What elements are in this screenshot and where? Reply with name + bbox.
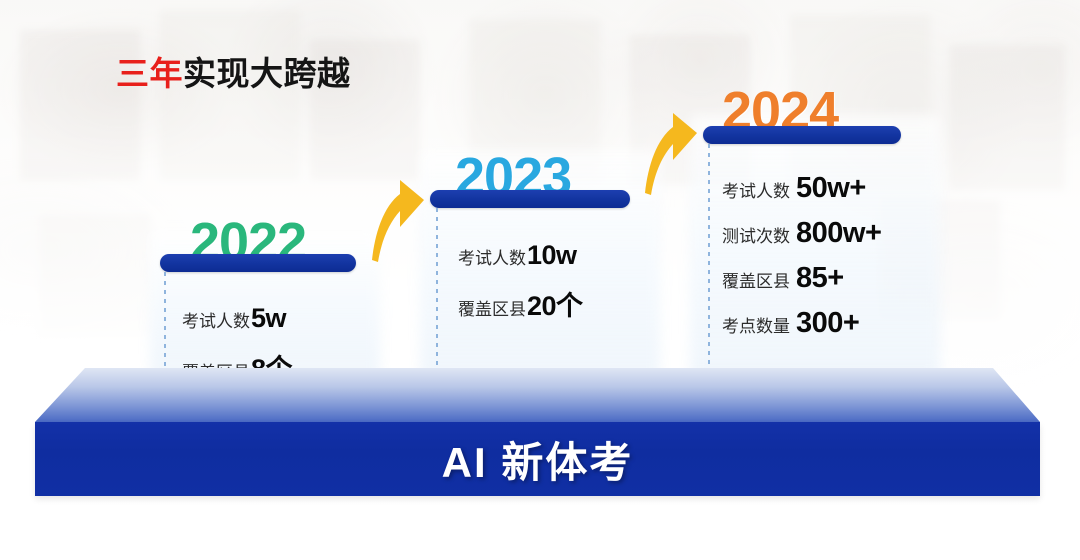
stat-row: 测试次数 800w+	[722, 217, 881, 250]
stat-row: 覆盖区县 20个	[458, 284, 583, 323]
stat-label: 测试次数	[722, 222, 790, 247]
connector-line-2023	[436, 208, 438, 382]
stat-value: 85+	[796, 262, 844, 295]
stat-value: 5w	[251, 303, 286, 334]
connector-line-2022	[164, 272, 166, 382]
page-title: 三年实现大跨越	[116, 47, 351, 95]
platform-top-surface	[0, 368, 1080, 424]
stat-value: 10w	[527, 240, 577, 271]
stats-2024: 考试人数 50w+ 测试次数 800w+ 覆盖区县 85+ 考点数量 300+	[722, 172, 881, 352]
stat-value: 20个	[527, 284, 583, 323]
infographic-canvas: 三年实现大跨越 2022 考试人数 5w 覆盖区县 8个 2023	[0, 0, 1080, 560]
stat-label: 覆盖区县	[722, 267, 790, 292]
stat-row: 考试人数 10w	[458, 240, 583, 271]
platform-base: AI 新体考	[0, 368, 1080, 508]
page-title-highlight: 三年	[116, 55, 183, 92]
step-bar-2022	[160, 254, 356, 272]
growth-arrow-2022-to-2023	[372, 180, 434, 271]
stat-label: 考试人数	[722, 177, 790, 202]
stat-label: 覆盖区县	[458, 295, 526, 320]
stat-label: 考试人数	[458, 244, 526, 269]
step-bar-2023	[430, 190, 630, 208]
stat-row: 覆盖区县 85+	[722, 262, 881, 295]
connector-line-2024	[708, 144, 710, 382]
stat-value: 50w+	[796, 172, 866, 205]
stat-label: 考试人数	[182, 307, 250, 332]
arrow-up-curved-icon	[645, 112, 707, 200]
platform-front-face	[35, 422, 1040, 496]
stat-value: 800w+	[796, 217, 881, 250]
step-bar-2024	[703, 126, 901, 144]
page-title-rest: 实现大跨越	[183, 55, 351, 92]
stat-value: 300+	[796, 307, 859, 340]
stat-label: 考点数量	[722, 312, 790, 337]
stat-row: 考试人数 50w+	[722, 172, 881, 205]
stats-2023: 考试人数 10w 覆盖区县 20个	[458, 240, 583, 336]
arrow-up-curved-icon	[372, 180, 434, 266]
stat-row: 考试人数 5w	[182, 303, 292, 334]
growth-arrow-2023-to-2024	[645, 112, 707, 205]
stat-row: 考点数量 300+	[722, 307, 881, 340]
